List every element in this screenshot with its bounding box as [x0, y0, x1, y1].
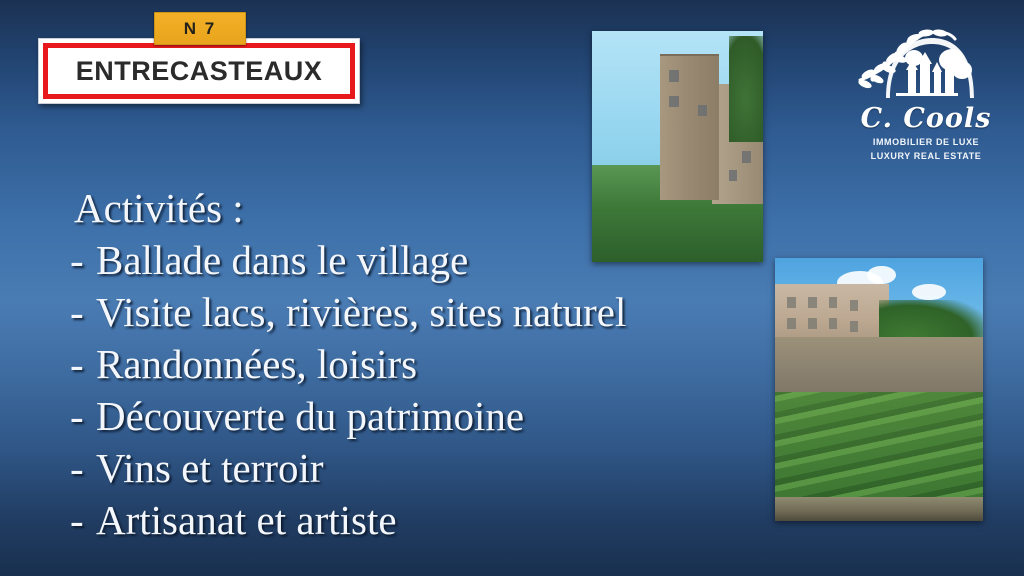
list-item: - Vins et terroir: [70, 442, 730, 494]
olive-branch-village-emblem: [852, 24, 1000, 104]
list-item-label: Visite lacs, rivières, sites naturel: [96, 286, 626, 338]
bullet-marker: -: [70, 338, 96, 390]
town-name-plate-frame: ENTRECASTEAUX: [43, 43, 355, 99]
photo-window: [698, 105, 707, 117]
bullet-marker: -: [70, 442, 96, 494]
photo-window: [850, 321, 858, 332]
town-name-label: ENTRECASTEAUX: [76, 58, 323, 85]
photo-cloud: [867, 266, 896, 284]
photo-window: [787, 297, 795, 308]
presentation-slide: N 7 ENTRECASTEAUX Activités : - Ballade …: [0, 0, 1024, 576]
list-item-label: Ballade dans le village: [96, 234, 468, 286]
photo-tree: [729, 36, 763, 142]
photo-lawn-overlay: [775, 392, 983, 502]
route-number-label: N 7: [184, 20, 216, 37]
photo-window: [850, 300, 858, 311]
chateau-tower-photo: [592, 31, 763, 262]
logo-tagline-fr: IMMOBILIER DE LUXE: [852, 136, 1000, 148]
photo-window: [808, 297, 816, 308]
list-item: - Visite lacs, rivières, sites naturel: [70, 286, 730, 338]
photo-window: [669, 70, 679, 82]
photo-window: [829, 318, 837, 329]
list-item-label: Artisanat et artiste: [96, 494, 397, 546]
bullet-marker: -: [70, 286, 96, 338]
photo-chateau-facade: [775, 284, 889, 342]
photo-foliage: [592, 133, 763, 262]
photo-window: [669, 96, 679, 108]
photo-window: [808, 318, 816, 329]
town-name-plate: ENTRECASTEAUX: [38, 38, 360, 104]
list-item: - Randonnées, loisirs: [70, 338, 730, 390]
logo-wordmark: C. Cools: [852, 104, 1000, 134]
list-item-label: Randonnées, loisirs: [96, 338, 417, 390]
logo-tagline-en: LUXURY REAL ESTATE: [852, 150, 1000, 162]
list-item: - Découverte du patrimoine: [70, 390, 730, 442]
list-item-label: Vins et terroir: [96, 442, 324, 494]
route-number-sign: N 7: [154, 12, 246, 45]
list-item: - Artisanat et artiste: [70, 494, 730, 546]
photo-stone-wall: [775, 337, 983, 400]
list-item-label: Découverte du patrimoine: [96, 390, 524, 442]
photo-window: [829, 297, 837, 308]
company-logo: C. Cools IMMOBILIER DE LUXE LUXURY REAL …: [852, 24, 1000, 176]
photo-window: [787, 318, 795, 329]
formal-garden-photo: [775, 258, 983, 521]
bullet-marker: -: [70, 390, 96, 442]
photo-foreground-terrace: [775, 497, 983, 521]
photo-cloud: [912, 284, 945, 300]
bullet-marker: -: [70, 494, 96, 546]
bullet-marker: -: [70, 234, 96, 286]
town-entry-sign: N 7 ENTRECASTEAUX: [38, 12, 360, 108]
